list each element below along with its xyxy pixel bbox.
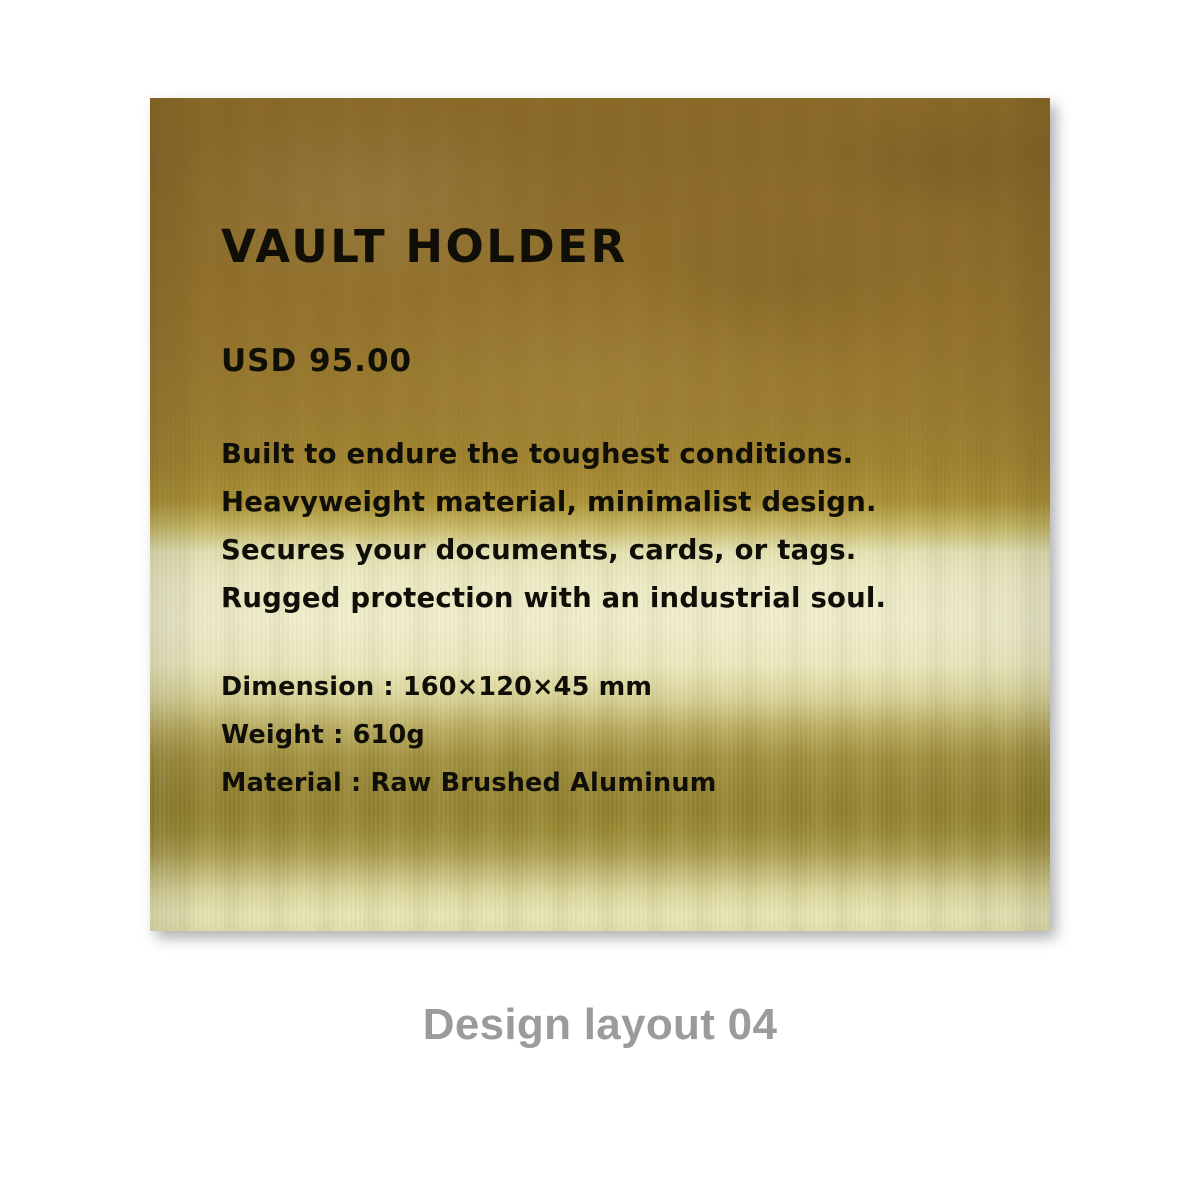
product-title: VAULT HOLDER (221, 224, 628, 269)
brushed-metal-surface: VAULT HOLDER USD 95.00 Built to endure t… (150, 98, 1050, 931)
description-line: Secures your documents, cards, or tags. (221, 526, 886, 574)
description-line: Built to endure the toughest conditions. (221, 430, 886, 478)
description-line: Heavyweight material, minimalist design. (221, 478, 886, 526)
spec-line-weight: Weight : 610g (221, 711, 717, 759)
product-specs: Dimension : 160×120×45 mm Weight : 610g … (221, 663, 717, 807)
design-mockup-canvas: VAULT HOLDER USD 95.00 Built to endure t… (0, 0, 1200, 1200)
product-spec-plate: VAULT HOLDER USD 95.00 Built to endure t… (150, 98, 1050, 931)
description-line: Rugged protection with an industrial sou… (221, 574, 886, 622)
product-description: Built to endure the toughest conditions.… (221, 430, 886, 622)
spec-line-material: Material : Raw Brushed Aluminum (221, 759, 717, 807)
spec-line-dimension: Dimension : 160×120×45 mm (221, 663, 717, 711)
product-price: USD 95.00 (221, 346, 412, 377)
layout-caption: Design layout 04 (0, 1000, 1200, 1050)
